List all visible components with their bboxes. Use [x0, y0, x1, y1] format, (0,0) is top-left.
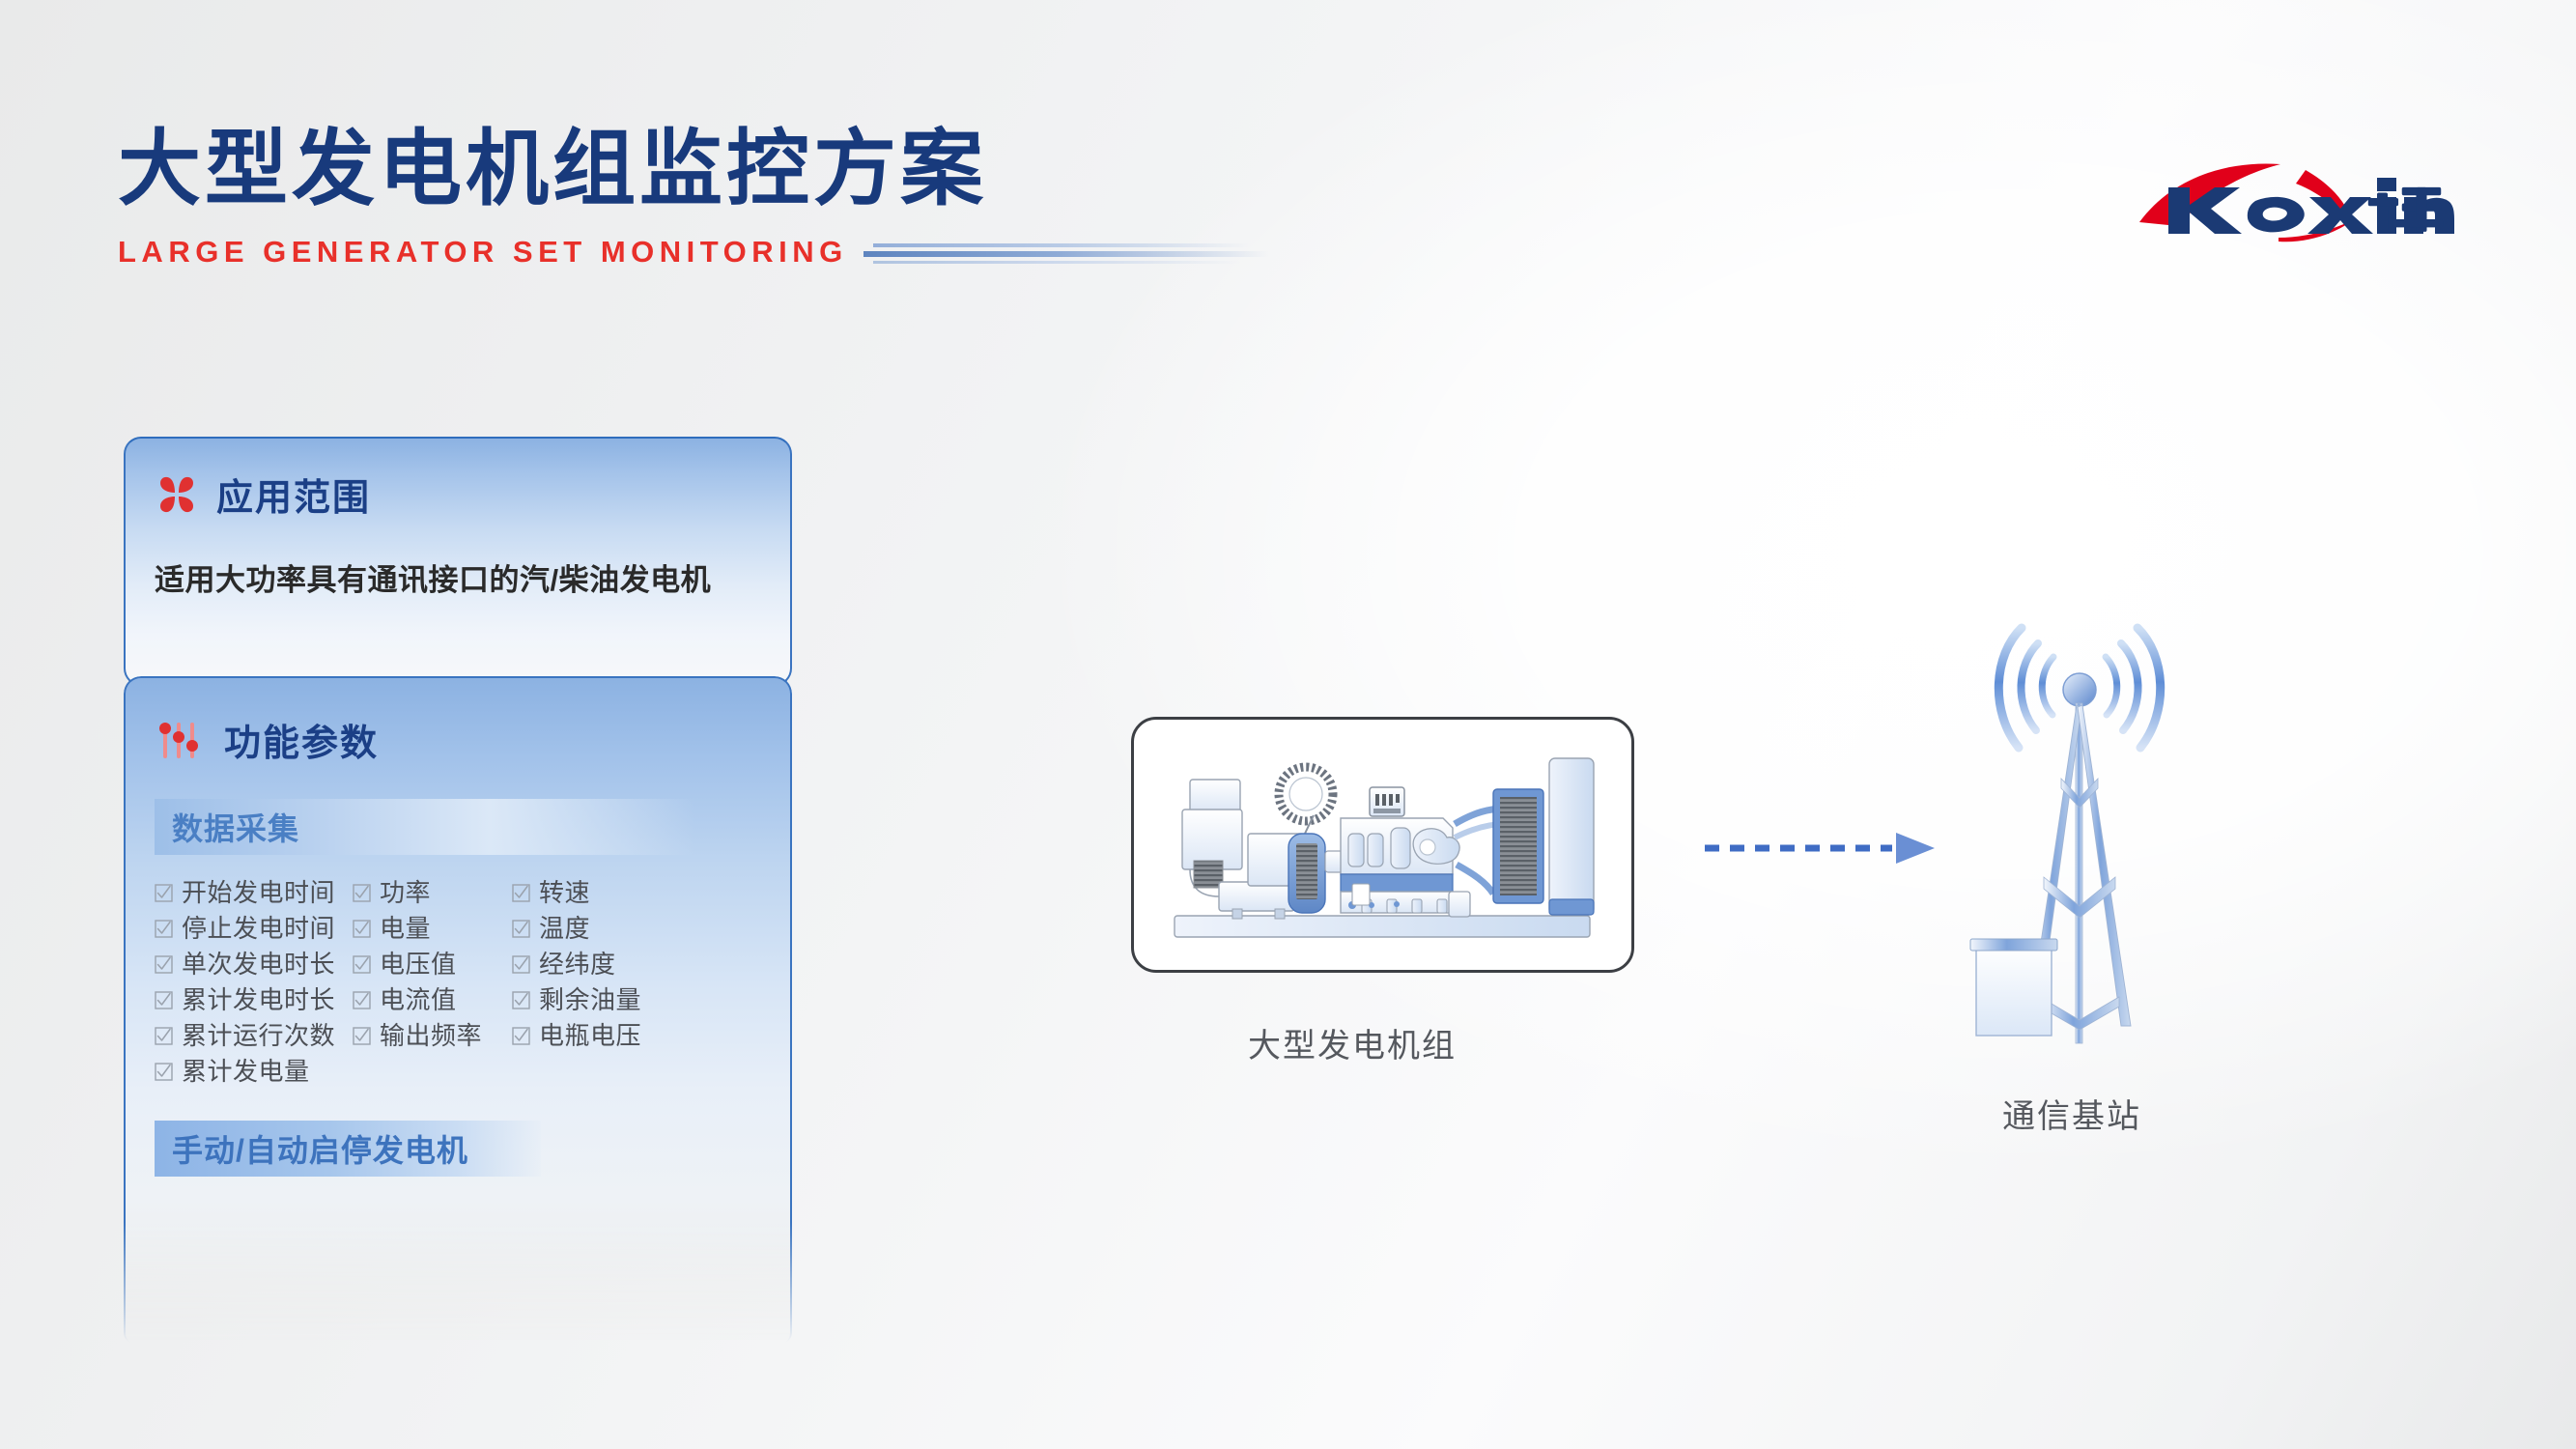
checklist-item[interactable]: 输出频率 — [353, 1019, 512, 1052]
checkbox-checked-icon[interactable] — [353, 991, 371, 1009]
checklist-item[interactable]: 停止发电时间 — [155, 912, 353, 945]
page-subtitle: LARGE GENERATOR SET MONITORING — [118, 235, 848, 270]
dashed-arrow-right-icon — [1703, 831, 1944, 866]
slide-canvas: 大型发电机组监控方案 LARGE GENERATOR SET MONITORIN… — [0, 0, 2576, 1449]
checklist-item-label: 累计发电时长 — [182, 987, 335, 1012]
checklist-item[interactable]: 单次发电时长 — [155, 948, 353, 980]
checkbox-checked-icon[interactable] — [155, 955, 173, 974]
checklist-item-label: 转速 — [539, 880, 590, 905]
checklist-item-label: 电流值 — [380, 987, 457, 1012]
checklist-item[interactable]: 累计发电时长 — [155, 983, 353, 1016]
checklist-item[interactable]: 经纬度 — [512, 948, 790, 980]
left-info-panel: 应用范围 适用大功率具有通讯接口的汽/柴油发电机 — [124, 437, 792, 1343]
checklist-item[interactable]: 累计运行次数 — [155, 1019, 353, 1052]
checklist-item-label: 温度 — [539, 916, 590, 941]
checkbox-checked-icon[interactable] — [512, 1027, 530, 1045]
checkbox-checked-icon[interactable] — [353, 1027, 371, 1045]
checklist-item[interactable]: 转速 — [512, 876, 790, 909]
page-header: 大型发电机组监控方案 LARGE GENERATOR SET MONITORIN… — [118, 126, 2050, 270]
checklist-item-label: 输出频率 — [380, 1023, 482, 1048]
checkbox-checked-icon[interactable] — [353, 920, 371, 938]
checklist-item[interactable]: 电量 — [353, 912, 512, 945]
generator-set-illustration — [1131, 717, 1634, 973]
card-title-function-parameters: 功能参数 — [224, 713, 379, 766]
checklist-item[interactable]: 电流值 — [353, 983, 512, 1016]
checkbox-checked-icon[interactable] — [155, 1027, 173, 1045]
card-header-application-scope: 应用范围 — [126, 439, 790, 521]
kexin-logo — [2134, 155, 2462, 247]
card-application-scope: 应用范围 适用大功率具有通讯接口的汽/柴油发电机 — [124, 437, 792, 686]
checklist-item[interactable]: 累计发电量 — [155, 1055, 353, 1088]
triple-line-decoration-icon — [873, 240, 1279, 265]
subsection-data-collection: 数据采集 — [155, 799, 695, 855]
checkbox-checked-icon[interactable] — [353, 955, 371, 974]
checkbox-checked-icon[interactable] — [512, 955, 530, 974]
checklist-item-label: 剩余油量 — [539, 987, 641, 1012]
checklist-item-label: 功率 — [380, 880, 431, 905]
checkbox-checked-icon[interactable] — [512, 884, 530, 902]
checkbox-checked-icon[interactable] — [155, 1063, 173, 1081]
checkbox-checked-icon[interactable] — [155, 991, 173, 1009]
checklist-item[interactable]: 剩余油量 — [512, 983, 790, 1016]
checkbox-checked-icon[interactable] — [512, 920, 530, 938]
application-scope-text: 适用大功率具有通讯接口的汽/柴油发电机 — [155, 555, 790, 599]
checkbox-checked-icon[interactable] — [512, 991, 530, 1009]
cell-tower-illustration — [1968, 599, 2191, 1053]
checkbox-checked-icon[interactable] — [353, 884, 371, 902]
four-petal-flower-icon — [155, 472, 199, 517]
checklist-item-label: 累计发电量 — [182, 1059, 310, 1084]
checklist-item-label: 电压值 — [380, 952, 457, 977]
card-title-application-scope: 应用范围 — [216, 468, 371, 521]
checklist-item-label: 累计运行次数 — [182, 1023, 335, 1048]
checklist-item-label: 停止发电时间 — [182, 916, 335, 941]
checklist-item[interactable]: 电瓶电压 — [512, 1019, 790, 1052]
manual-auto-start-stop-label: 手动/自动启停发电机 — [155, 1121, 541, 1177]
page-title: 大型发电机组监控方案 — [118, 126, 2050, 213]
checkbox-checked-icon[interactable] — [155, 920, 173, 938]
sliders-icon — [156, 718, 201, 762]
checklist-item-label: 开始发电时间 — [182, 880, 335, 905]
checklist-item[interactable]: 开始发电时间 — [155, 876, 353, 909]
tower-caption: 通信基站 — [2002, 1090, 2141, 1137]
checklist-item-label: 经纬度 — [539, 952, 616, 977]
checklist-item[interactable]: 温度 — [512, 912, 790, 945]
checkbox-checked-icon[interactable] — [155, 884, 173, 902]
checklist-item-label: 单次发电时长 — [182, 952, 335, 977]
checklist-item-label: 电量 — [380, 916, 431, 941]
card-function-parameters: 功能参数 数据采集 开始发电时间功率转速停止发电时间电量温度单次发电时长电压值经… — [124, 676, 792, 1343]
generator-caption: 大型发电机组 — [1248, 1019, 1457, 1066]
manual-auto-control-wrap: 手动/自动启停发电机 — [126, 1121, 790, 1177]
generator-figure: 大型发电机组 — [1131, 717, 1634, 973]
card-header-function-parameters: 功能参数 — [126, 678, 790, 766]
checklist-item[interactable]: 电压值 — [353, 948, 512, 980]
checklist-item-label: 电瓶电压 — [539, 1023, 641, 1048]
checklist-item[interactable]: 功率 — [353, 876, 512, 909]
data-collection-checklist: 开始发电时间功率转速停止发电时间电量温度单次发电时长电压值经纬度累计发电时长电流… — [155, 876, 790, 1088]
subtitle-row: LARGE GENERATOR SET MONITORING — [118, 235, 2050, 270]
